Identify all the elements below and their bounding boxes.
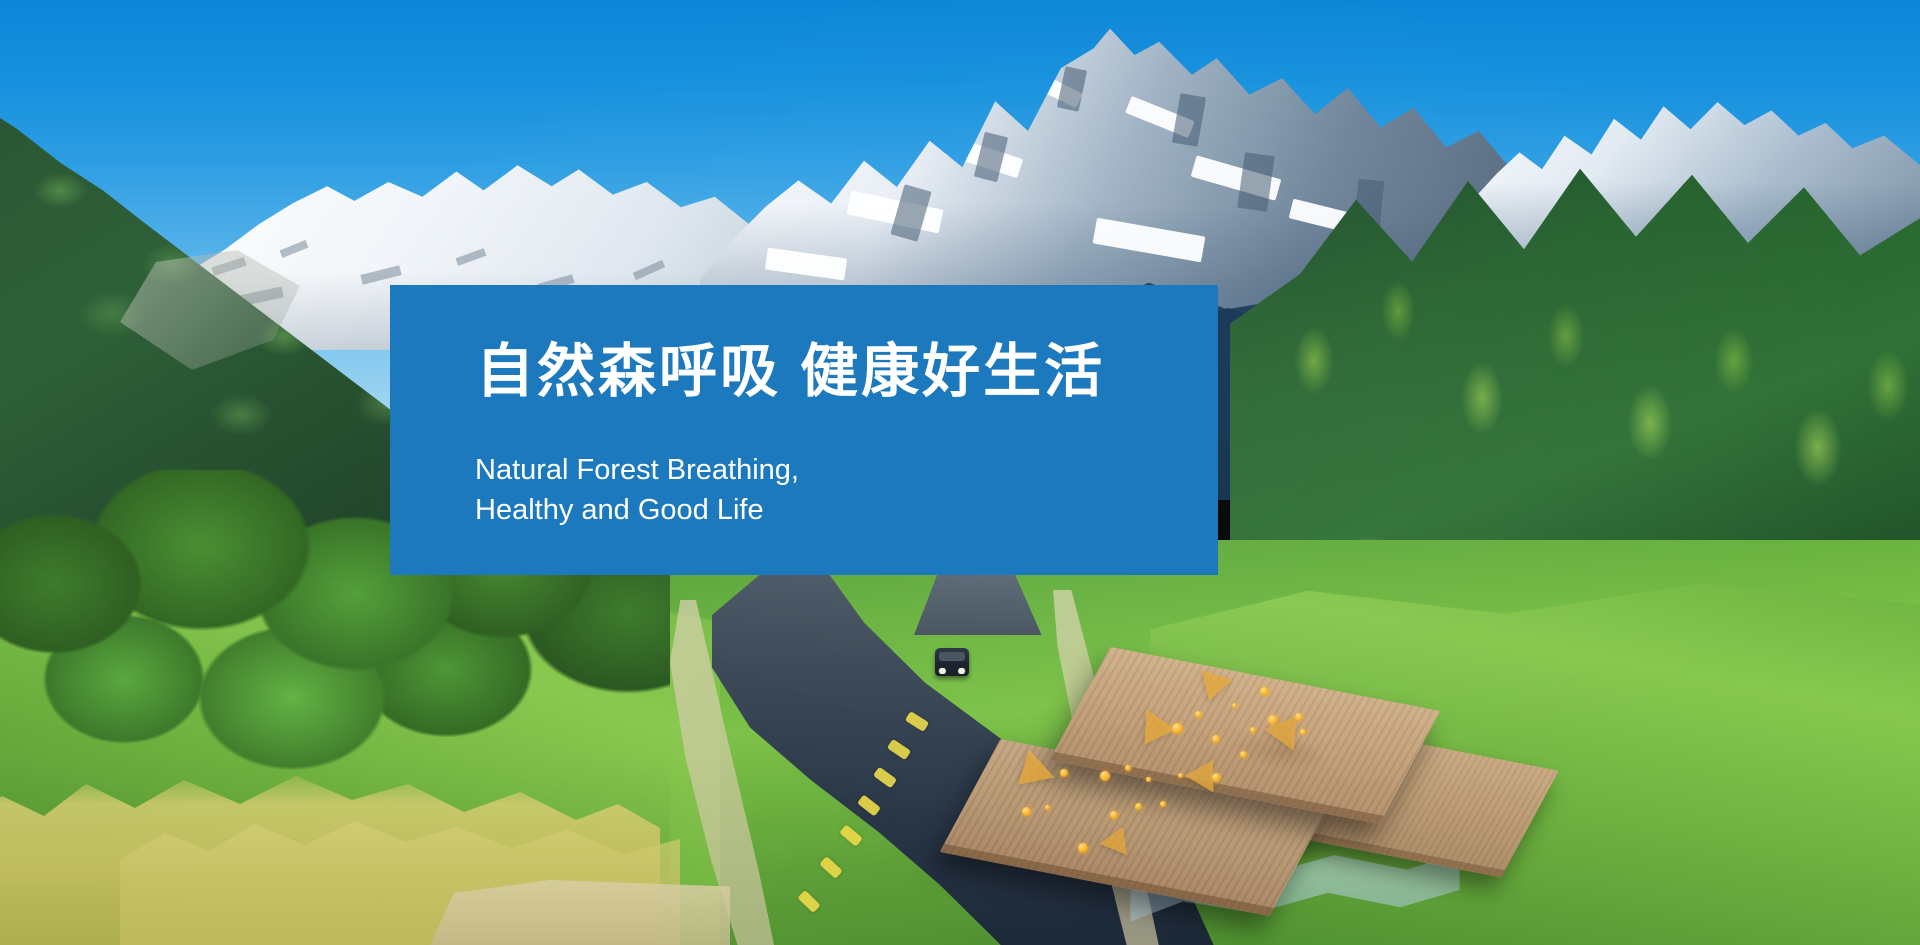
headline-panel: 自然森呼吸 健康好生活 Natural Forest Breathing,Hea… (390, 285, 1218, 575)
wood-flooring-product-graphic (950, 655, 1510, 945)
subtitle-line-2: Healthy and Good Life (475, 494, 764, 526)
subtitle-line-1: Natural Forest Breathing, (475, 454, 799, 486)
page-subtitle: Natural Forest Breathing,Healthy and Goo… (475, 450, 1218, 530)
page-title: 自然森呼吸 健康好生活 (476, 341, 1218, 404)
hero-banner: 自然森呼吸 健康好生活 Natural Forest Breathing,Hea… (0, 0, 1920, 945)
